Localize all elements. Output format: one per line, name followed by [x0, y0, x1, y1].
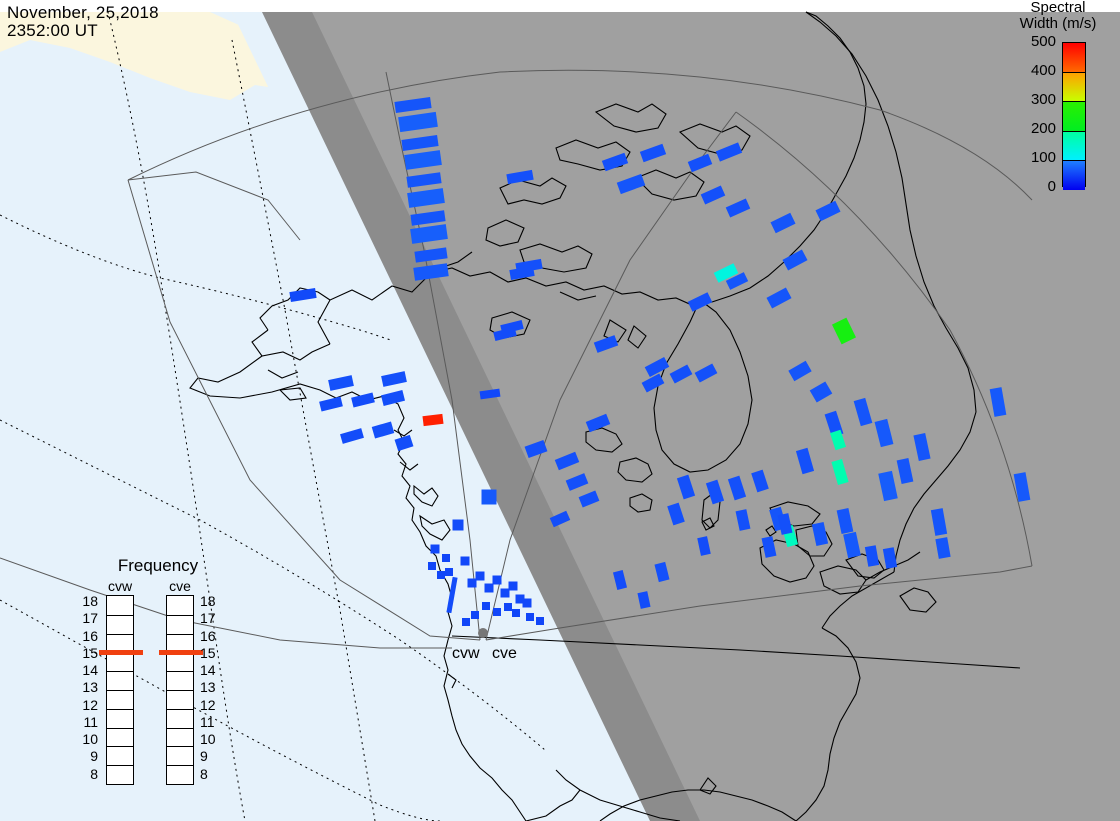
spectral-width-cell	[437, 571, 445, 579]
colorbar-tick: 500	[1000, 36, 1056, 65]
colorbar: Spectral Width (m/s) 5004003002001000	[1000, 0, 1118, 200]
frequency-panel: Frequency 18171615141312111098 cvw cve 1…	[78, 556, 238, 796]
spectral-width-cell	[462, 618, 470, 626]
frequency-gridline	[167, 709, 193, 710]
frequency-gridline	[107, 746, 133, 747]
frequency-tick: 13	[78, 681, 98, 698]
colorbar-title-line1: Spectral	[1000, 0, 1116, 16]
frequency-column-label-cve: cve	[166, 578, 194, 595]
spectral-width-cell	[512, 609, 520, 617]
spectral-width-cell	[442, 554, 450, 562]
frequency-scale-left: 18171615141312111098	[78, 595, 98, 785]
site-label-cve: cve	[492, 645, 517, 663]
frequency-gridline	[107, 709, 133, 710]
spectral-width-cell	[453, 520, 464, 531]
colorbar-title-line2: Width (m/s)	[1000, 16, 1116, 32]
frequency-tick: 17	[78, 612, 98, 629]
frequency-bar-cve	[166, 595, 194, 785]
spectral-width-cell	[445, 568, 453, 576]
colorbar-segment	[1063, 161, 1085, 190]
colorbar-tick-labels: 5004003002001000	[1000, 36, 1056, 210]
frequency-column-label-cvw: cvw	[106, 578, 134, 595]
spectral-width-cell	[482, 602, 490, 610]
frequency-gridline	[167, 615, 193, 616]
frequency-tick: 8	[200, 768, 220, 785]
frequency-gridline	[167, 765, 193, 766]
spectral-width-cell	[526, 613, 534, 621]
frequency-gridline	[107, 690, 133, 691]
spectral-width-cell	[536, 617, 544, 625]
colorbar-tick: 100	[1000, 152, 1056, 181]
spectral-width-cell	[468, 579, 477, 588]
spectral-width-cell	[493, 608, 501, 616]
timestamp-date: November, 25,2018	[7, 3, 159, 22]
frequency-column-cve: cve	[166, 578, 194, 785]
frequency-tick: 17	[200, 612, 220, 629]
spectral-width-cell	[431, 545, 440, 554]
colorbar-segment	[1063, 43, 1085, 73]
frequency-gridline	[167, 746, 193, 747]
frequency-scale-right: 18171615141312111098	[200, 595, 220, 785]
colorbar-segment	[1063, 102, 1085, 132]
radar-site-marker	[478, 628, 488, 638]
frequency-gridline	[107, 728, 133, 729]
spectral-width-cell	[504, 603, 512, 611]
frequency-title: Frequency	[78, 556, 238, 576]
colorbar-title: Spectral Width (m/s)	[1000, 0, 1116, 32]
frequency-gridline	[167, 690, 193, 691]
frequency-column-cvw: cvw	[106, 578, 134, 785]
site-label-cvw: cvw	[452, 645, 480, 663]
colorbar-gradient	[1062, 42, 1086, 187]
timestamp: November, 25,2018 2352:00 UT	[7, 4, 159, 40]
colorbar-tick: 400	[1000, 65, 1056, 94]
spectral-width-cell	[428, 562, 436, 570]
spectral-width-cell	[493, 576, 502, 585]
frequency-tick: 8	[78, 768, 98, 785]
spectral-width-cell	[461, 557, 470, 566]
colorbar-tick: 0	[1000, 181, 1056, 210]
spectral-width-cell	[476, 572, 485, 581]
spectral-width-cell	[509, 582, 518, 591]
spectral-width-cell	[501, 589, 510, 598]
spectral-width-cell	[482, 490, 497, 505]
frequency-marker	[159, 650, 203, 655]
frequency-gridline	[107, 671, 133, 672]
frequency-tick: 13	[200, 681, 220, 698]
frequency-gridline	[167, 671, 193, 672]
frequency-bar-cvw	[106, 595, 134, 785]
frequency-gridline	[167, 634, 193, 635]
colorbar-segment	[1063, 73, 1085, 103]
radar-map-figure: November, 25,2018 2352:00 UT Spectral Wi…	[0, 0, 1120, 821]
frequency-gridline	[107, 765, 133, 766]
frequency-gridline	[167, 728, 193, 729]
spectral-width-cell	[523, 599, 532, 608]
spectral-width-cell	[485, 584, 494, 593]
colorbar-tick: 200	[1000, 123, 1056, 152]
colorbar-tick: 300	[1000, 94, 1056, 123]
frequency-gridline	[107, 615, 133, 616]
spectral-width-cell	[471, 611, 479, 619]
timestamp-time: 2352:00 UT	[7, 21, 98, 40]
frequency-marker	[99, 650, 143, 655]
colorbar-segment	[1063, 132, 1085, 162]
frequency-gridline	[107, 634, 133, 635]
